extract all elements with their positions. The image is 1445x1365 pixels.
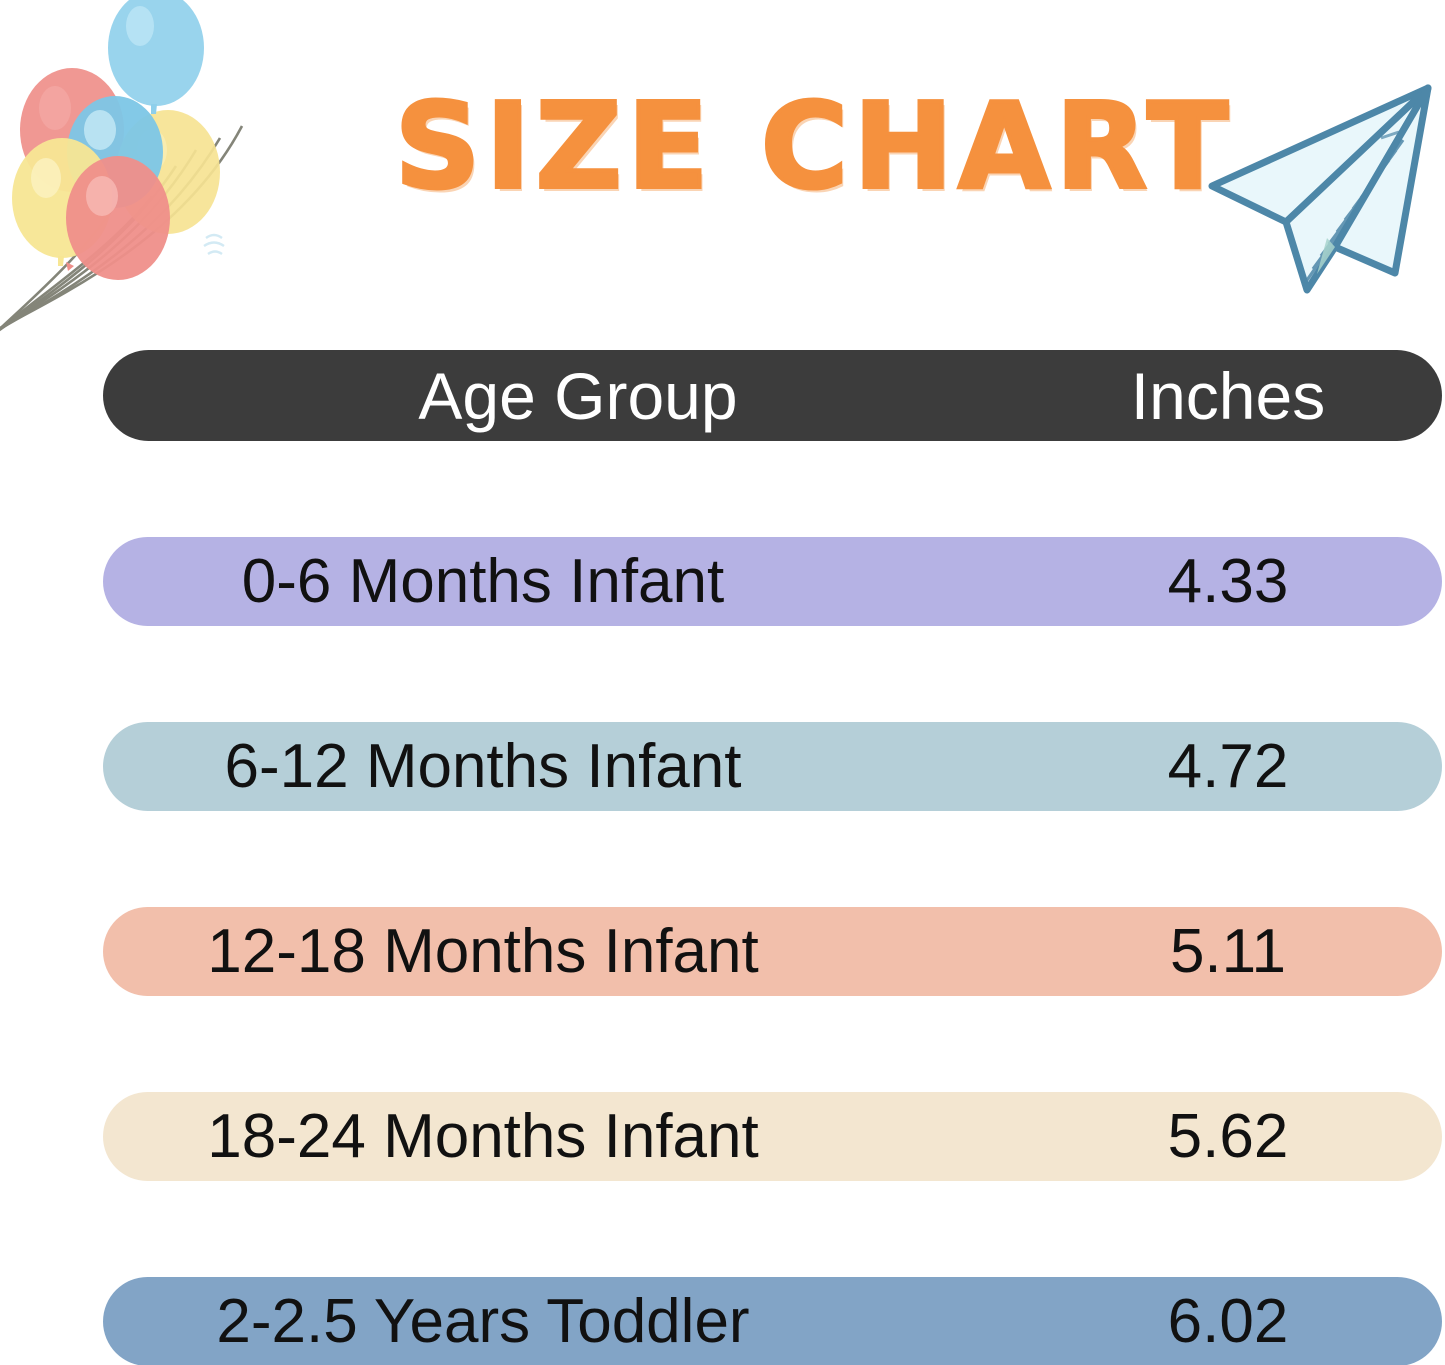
row-inches: 5.11 [1008,920,1445,984]
page-title: SIZE CHART [395,86,1165,206]
table-row[interactable]: 18-24 Months Infant 5.62 [103,1092,1442,1181]
row-spacer [0,996,1445,1092]
row-age-group: 2-2.5 Years Toddler [103,1290,863,1354]
row-inches: 5.62 [1008,1105,1445,1169]
column-header-age-group: Age Group [198,362,958,430]
row-age-group: 0-6 Months Infant [103,550,863,614]
table-row[interactable]: 6-12 Months Infant 4.72 [103,722,1442,811]
row-age-group: 6-12 Months Infant [103,735,863,799]
row-spacer [0,626,1445,722]
row-age-group: 12-18 Months Infant [103,920,863,984]
row-spacer [0,1181,1445,1277]
header-band: SIZE CHART [0,0,1445,345]
row-age-group: 18-24 Months Infant [103,1105,863,1169]
row-inches: 6.02 [1008,1290,1445,1354]
size-table: Age Group Inches 0-6 Months Infant 4.33 … [0,345,1445,1365]
row-spacer [0,811,1445,907]
column-header-inches: Inches [1008,362,1445,430]
balloon-bunch-icon [0,0,320,340]
table-row[interactable]: 12-18 Months Infant 5.11 [103,907,1442,996]
row-inches: 4.33 [1008,550,1445,614]
header-spacer [0,441,1445,537]
table-row[interactable]: 0-6 Months Infant 4.33 [103,537,1442,626]
table-row[interactable]: 2-2.5 Years Toddler 6.02 [103,1277,1442,1365]
row-inches: 4.72 [1008,735,1445,799]
paper-plane-icon [1185,62,1445,317]
table-header-row: Age Group Inches [103,350,1442,441]
size-chart-page: SIZE CHART [0,0,1445,1365]
